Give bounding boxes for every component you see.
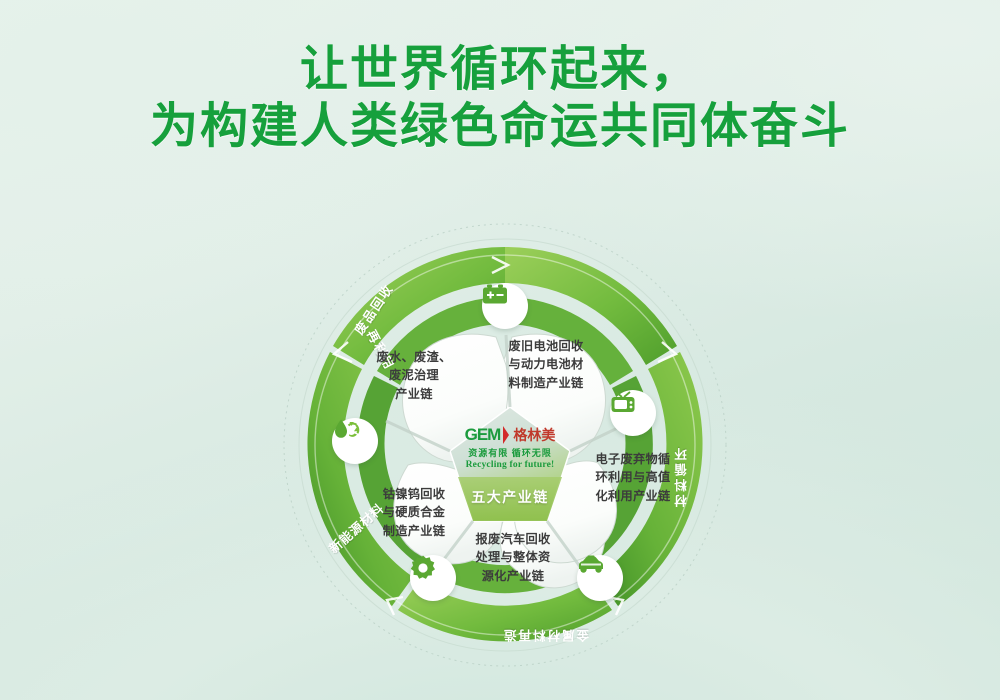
ring-label-metal: 金属材料再造 (502, 627, 589, 646)
petal-label-ewaste: 电子废弃物循 环利用与高值 化利用产业链 (581, 450, 685, 505)
logo-triangle-mark (503, 426, 509, 444)
battery-icon[interactable] (482, 283, 528, 329)
logo-row: GEM 格林美 (455, 425, 565, 445)
title-line-2: 为构建人类绿色命运共同体奋斗 (0, 99, 1000, 156)
center-caption: 五大产业链 (455, 487, 565, 507)
car-icon[interactable] (577, 555, 623, 601)
gear-icon[interactable] (410, 555, 456, 601)
petal-label-cobalt: 钴镍钨回收 与硬质合金 制造产业链 (362, 485, 466, 540)
petal-label-auto: 报废汽车回收 处理与整体资 源化产业链 (461, 530, 565, 585)
gear-icon-glyph (410, 555, 436, 581)
logo-chinese-name: 格林美 (513, 425, 555, 445)
petal-label-water: 废水、废渣、 废泥治理 产业链 (362, 348, 466, 403)
logo-slogan: 资源有限 循环无限 (455, 446, 565, 459)
water-recycle-icon-glyph (332, 418, 360, 444)
water-recycle-icon[interactable] (332, 418, 378, 464)
page-title: 让世界循环起来， 为构建人类绿色命运共同体奋斗 (0, 42, 1000, 155)
petal-label-battery: 废旧电池回收 与动力电池材 料制造产业链 (494, 337, 598, 392)
tv-icon-glyph (610, 390, 636, 414)
circular-economy-diagram: 废品回收 再利用 新能源材料 金属材料再造 材料循环 废旧电池回收 与动力电池材… (280, 215, 730, 675)
logo-latin-text: GEM (465, 425, 501, 445)
battery-icon-glyph (482, 283, 508, 305)
car-icon-glyph (577, 555, 605, 575)
logo-tagline: Recycling for future! (455, 460, 565, 470)
gem-logo: GEM 格林美 资源有限 循环无限 Recycling for future! (455, 425, 565, 470)
tv-icon[interactable] (610, 390, 656, 436)
title-line-1: 让世界循环起来， (0, 42, 1000, 99)
